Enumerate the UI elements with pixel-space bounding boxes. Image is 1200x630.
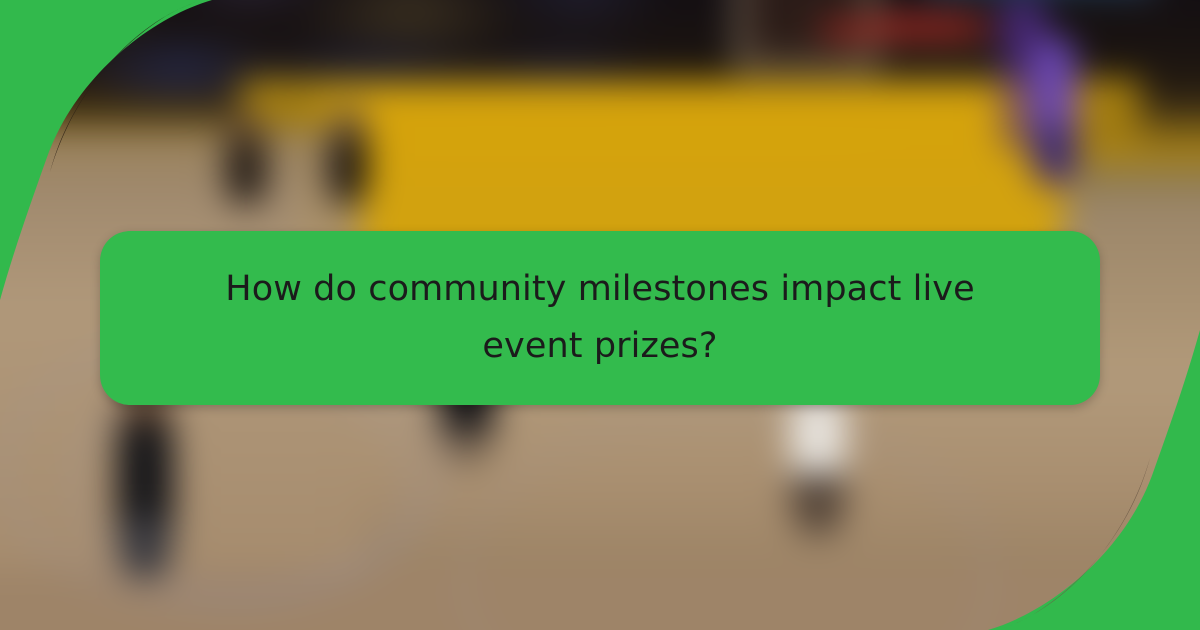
player-background-2	[328, 104, 368, 204]
title-card: How do community milestones impact live …	[100, 231, 1100, 405]
player-background-1	[226, 108, 266, 204]
page-title: How do community milestones impact live …	[100, 261, 1100, 374]
player-foreground	[116, 378, 174, 578]
basketball-rim	[820, 22, 960, 40]
player-background-3	[1032, 36, 1076, 186]
screenshot-canvas: How do community milestones impact live …	[0, 0, 1200, 630]
